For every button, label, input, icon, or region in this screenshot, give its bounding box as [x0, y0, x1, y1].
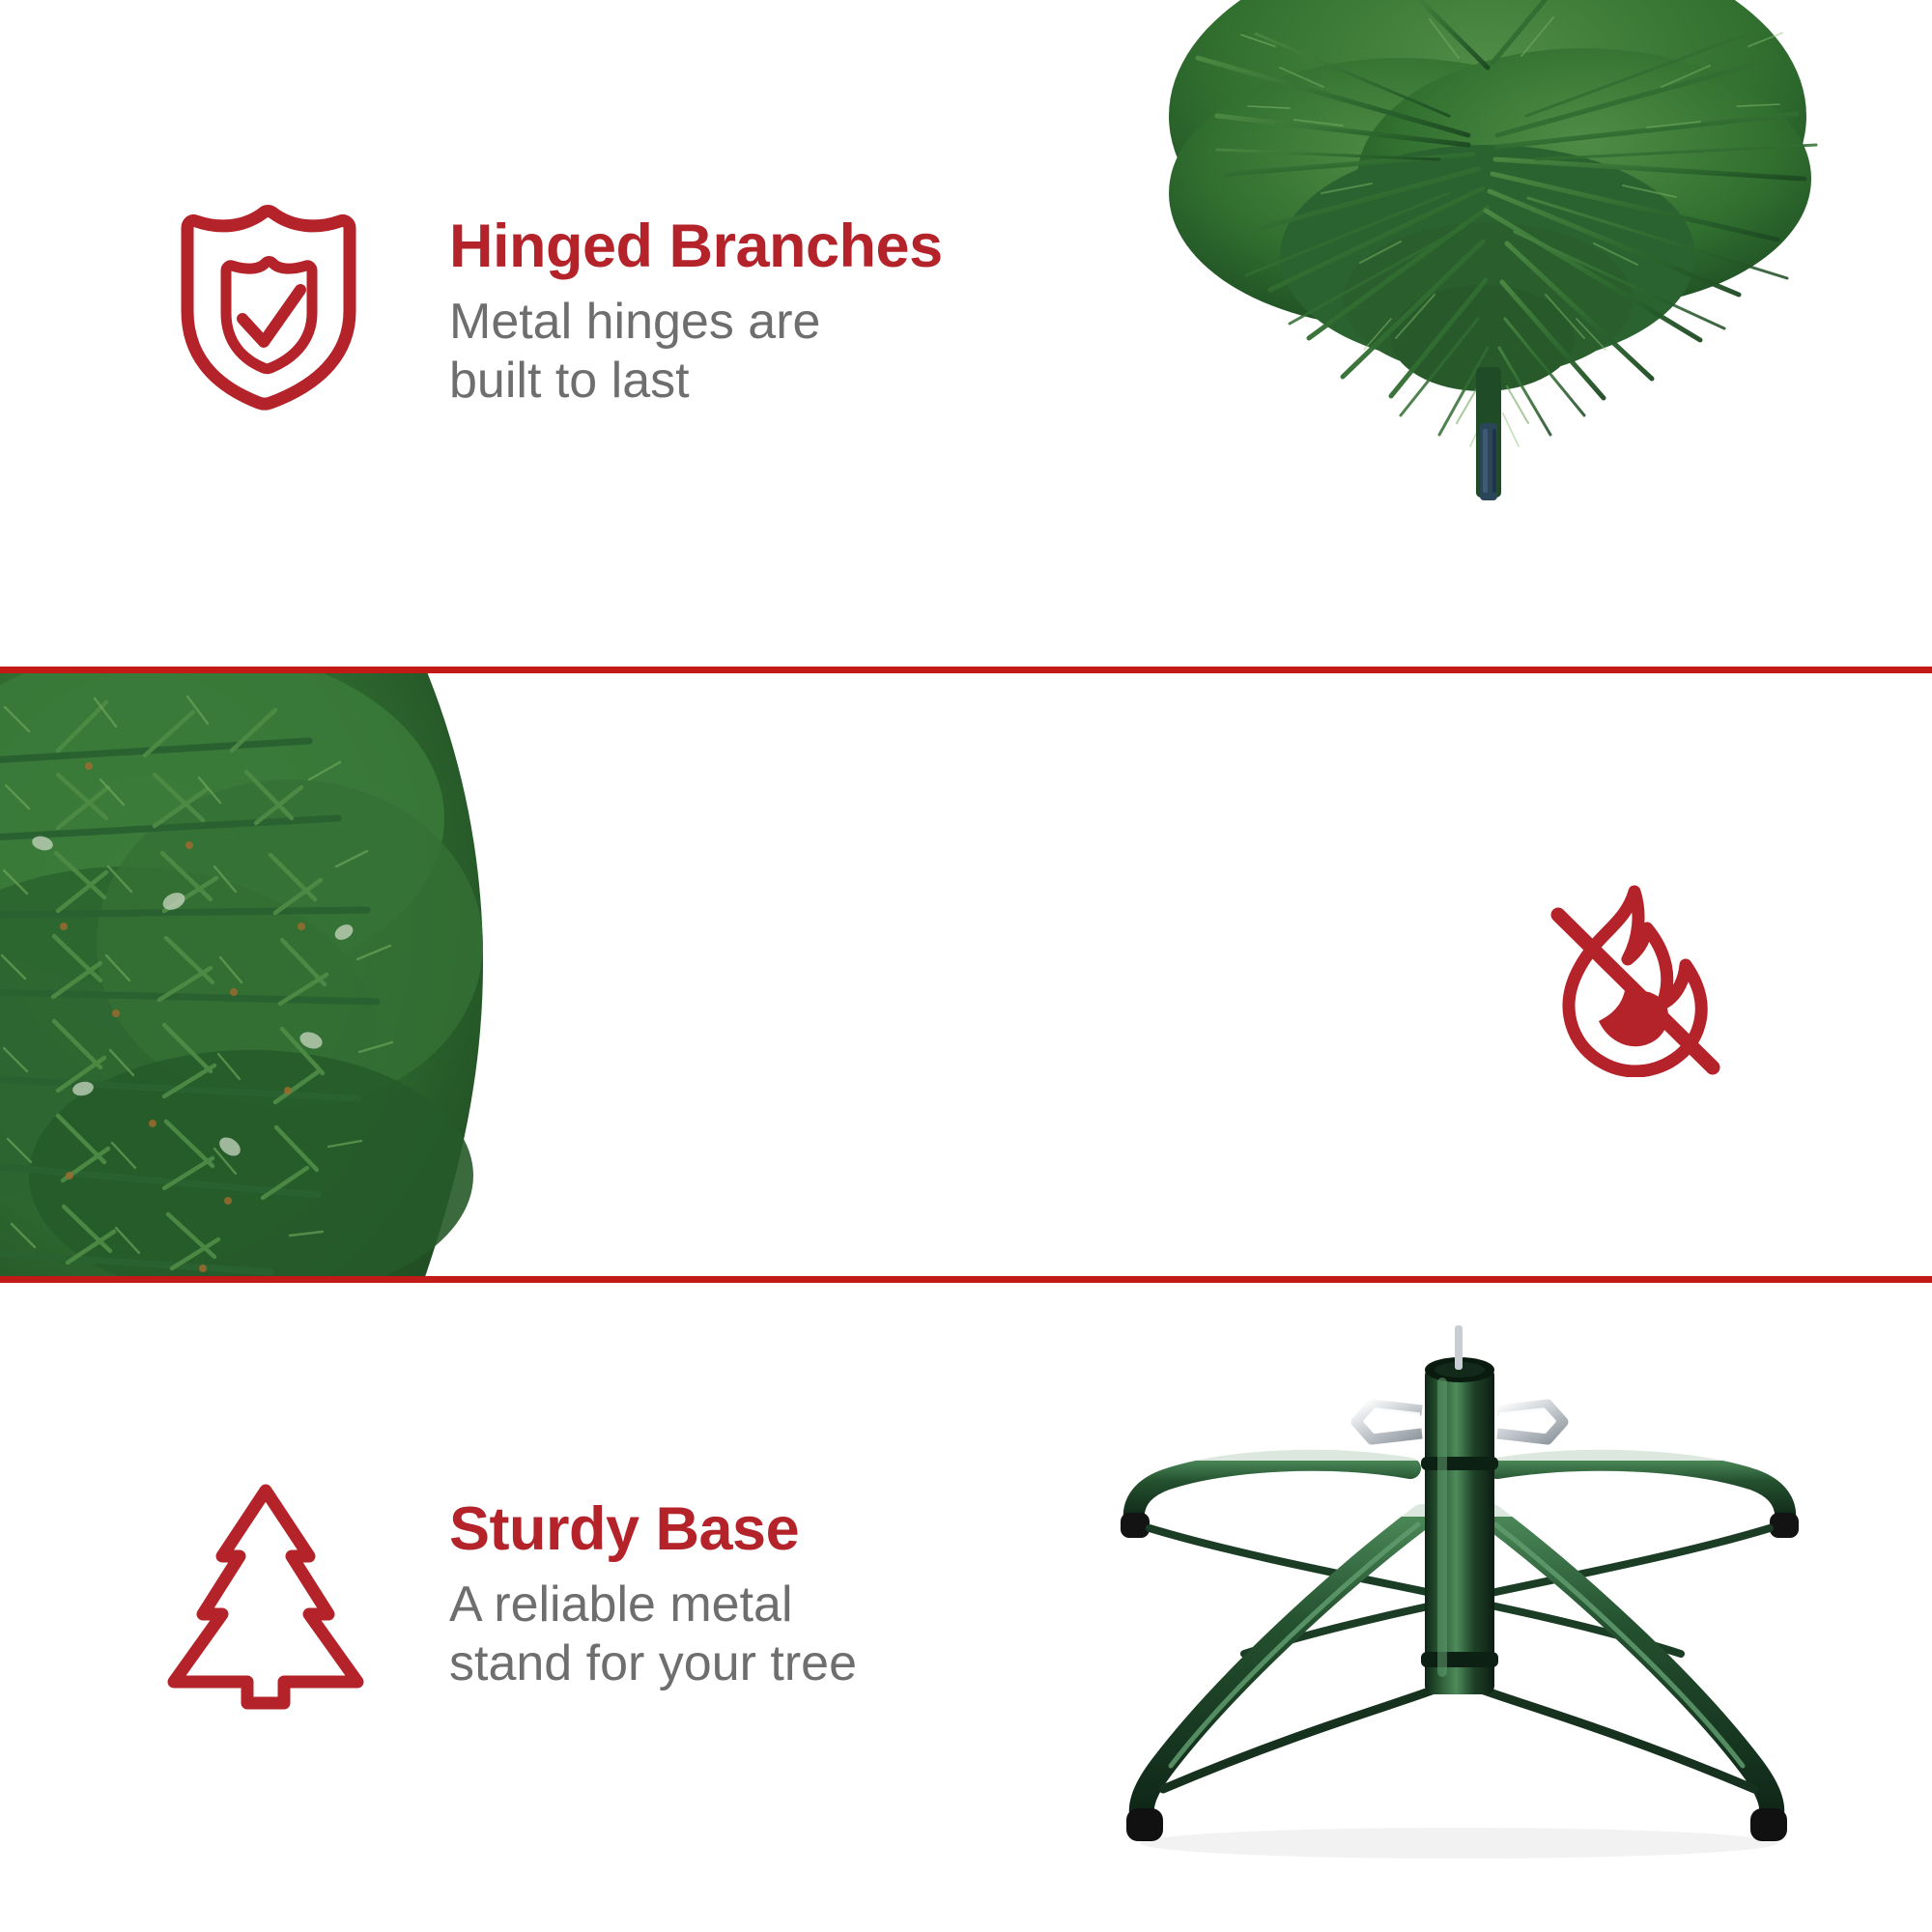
feature-text-sturdy-base: Sturdy Base A reliable metal stand for y…: [449, 1497, 857, 1692]
feature-subtitle-sturdy-base: A reliable metal stand for your tree: [449, 1576, 857, 1693]
feature-subtitle-line: A reliable metal: [449, 1576, 857, 1634]
foliage-illustration: [0, 673, 676, 1276]
feature-title-sturdy-base: Sturdy Base: [449, 1497, 857, 1562]
feature-subtitle-line: built to last: [449, 352, 943, 411]
tree-branches-illustration: [1082, 0, 1932, 638]
shield-check-glyph: [172, 203, 365, 411]
feature-subtitle-line: Metal hinges are: [449, 293, 943, 352]
feature-title-hinged-branches: Hinged Branches: [449, 214, 943, 279]
no-flame-glyph: [1543, 884, 1726, 1077]
christmas-tree-icon: [162, 1483, 370, 1710]
artificial-tree-branches-photo: [1082, 0, 1932, 638]
section-divider-top: [0, 667, 1932, 673]
feature-subtitle-line: stand for your tree: [449, 1634, 857, 1693]
section-divider-bottom: [0, 1276, 1932, 1283]
tree-foliage-closeup-photo: [0, 673, 676, 1276]
feature-panel-hinged-branches: Hinged Branches Metal hinges are built t…: [0, 0, 1932, 667]
feature-subtitle-hinged-branches: Metal hinges are built to last: [449, 293, 943, 411]
metal-tree-stand-photo: [985, 1314, 1932, 1874]
product-feature-infographic: Hinged Branches Metal hinges are built t…: [0, 0, 1932, 1932]
no-flame-icon: [1543, 884, 1726, 1077]
feature-panel-sturdy-base: Sturdy Base A reliable metal stand for y…: [0, 1283, 1932, 1932]
shield-check-icon: [172, 203, 365, 411]
christmas-tree-glyph: [162, 1483, 370, 1710]
metal-tree-stand-illustration: [985, 1314, 1932, 1874]
feature-text-hinged-branches: Hinged Branches Metal hinges are built t…: [449, 214, 943, 410]
feature-panel-pvc-tips: PVC Tips Flame-retardant and easy to flu…: [0, 673, 1932, 1276]
